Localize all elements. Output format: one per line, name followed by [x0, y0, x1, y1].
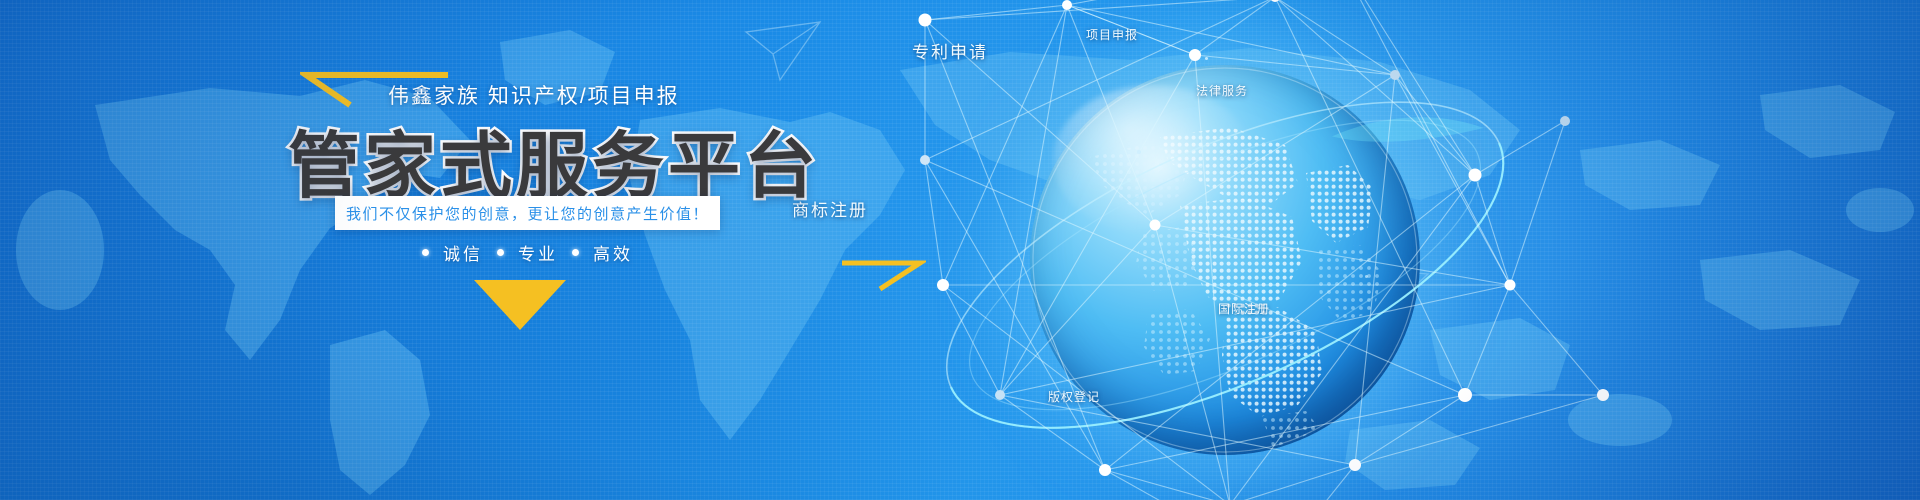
- globe-label-copyright-registration: 版权登记: [1048, 388, 1100, 405]
- banner-text-block: 伟鑫家族 知识产权/项目申报 管家式服务平台 我们不仅保护您的创意，更让您的创意…: [0, 0, 820, 500]
- globe-label-legal-service: 法律服务: [1196, 82, 1248, 99]
- banner-value-list: 诚信 专业 高效: [335, 240, 720, 265]
- banner-tagline-box: 我们不仅保护您的创意，更让您的创意产生价值！: [335, 196, 720, 230]
- bullet-dot-icon: [572, 249, 579, 256]
- bullet-dot-icon: [422, 249, 429, 256]
- banner-tagline-text: 我们不仅保护您的创意，更让您的创意产生价值！: [346, 203, 709, 224]
- globe-label-project-declaration: 项目申报: [1086, 26, 1138, 43]
- globe-graphic: [905, 0, 1545, 500]
- globe-network-mesh: [775, 0, 1675, 500]
- globe-label-patent-application: 专利申请: [912, 38, 988, 63]
- value-item-efficient: 高效: [593, 240, 633, 265]
- value-item-integrity: 诚信: [443, 240, 483, 265]
- chevron-right-accent-icon: [840, 258, 926, 292]
- spark-dot: [1205, 57, 1208, 60]
- globe-label-international-registration: 国际注册: [1218, 300, 1270, 317]
- value-item-professional: 专业: [518, 240, 558, 265]
- hero-banner: 商标注册 专利申请 项目申报 法律服务 国际注册 版权登记 伟鑫家族 知识产权/…: [0, 0, 1920, 500]
- spark-dot: [1137, 150, 1141, 154]
- triangle-down-accent-icon: [472, 278, 568, 332]
- spark-dot: [1365, 275, 1368, 278]
- banner-subtitle: 伟鑫家族 知识产权/项目申报: [388, 80, 680, 110]
- bullet-dot-icon: [497, 249, 504, 256]
